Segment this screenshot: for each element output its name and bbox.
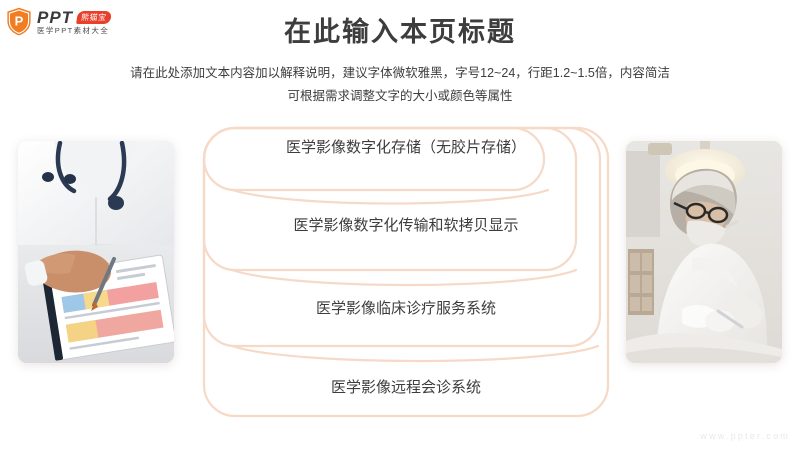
page-title: 在此输入本页标题 — [0, 16, 800, 48]
frame-rect-1 — [204, 128, 544, 190]
frame-divider-1 — [232, 190, 548, 204]
frame-divider-2 — [232, 270, 576, 285]
list-item[interactable]: 医学影像临床诊疗服务系统 — [196, 300, 616, 318]
left-photo — [18, 141, 174, 363]
frame-rect-4 — [204, 128, 608, 416]
subtitle-line-1: 请在此处添加文本内容加以解释说明，建议字体微软雅黑，字号12~24，行距1.2~… — [0, 62, 800, 85]
footer-watermark: www.ppter.com — [700, 431, 790, 441]
list-item[interactable]: 医学影像数字化传输和软拷贝显示 — [196, 217, 616, 235]
subtitle-line-2: 可根据需求调整文字的大小或颜色等属性 — [0, 85, 800, 108]
rounded-frames-svg — [196, 122, 616, 422]
page-subtitle: 请在此处添加文本内容加以解释说明，建议字体微软雅黑，字号12~24，行距1.2~… — [0, 62, 800, 108]
doctor-reviewing-report-illustration — [18, 141, 174, 363]
list-item[interactable]: 医学影像远程会诊系统 — [196, 379, 616, 397]
nested-frames-graphic — [196, 122, 616, 422]
surgeon-operating-room-illustration — [626, 141, 782, 363]
right-photo — [626, 141, 782, 363]
frame-divider-3 — [232, 346, 598, 361]
list-item[interactable]: 医学影像数字化存储（无胶片存储） — [196, 139, 616, 157]
slide-canvas: P PPT 熊猫宝 医学PPT素材大全 在此输入本页标题 请在此处添加文本内容加… — [0, 0, 800, 450]
